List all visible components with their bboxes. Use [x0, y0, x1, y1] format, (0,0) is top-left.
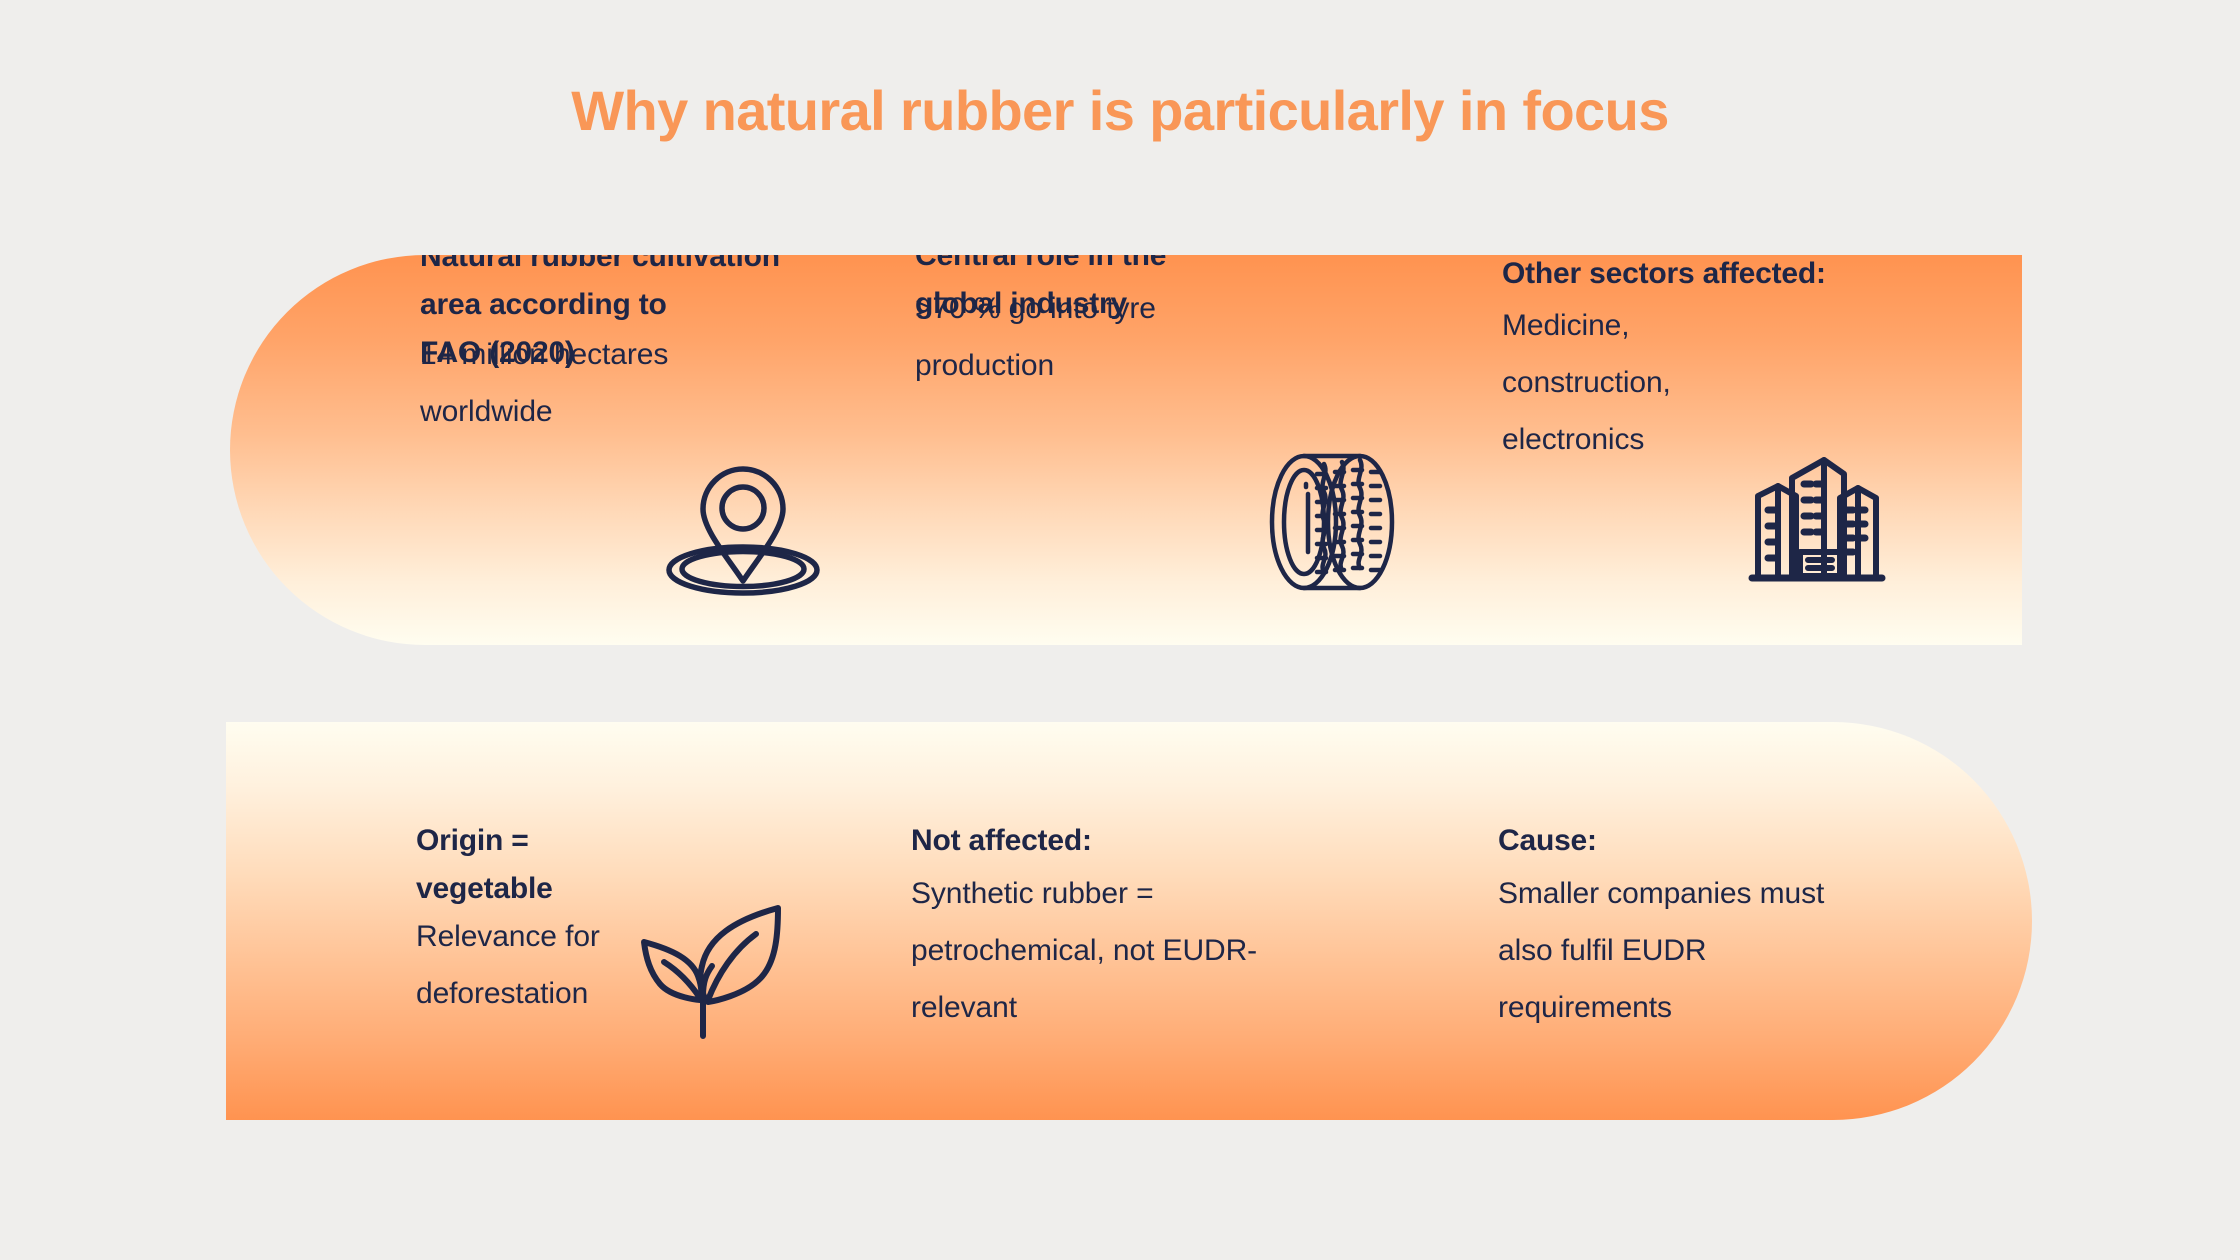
- bottom-card: Origin = vegetable Relevance for defores…: [226, 722, 2032, 1120]
- central-role-body: >70 % go into tyre production: [915, 280, 1156, 394]
- bottom-card-column-1: Origin = vegetable Relevance for defores…: [378, 722, 878, 1120]
- other-sectors-heading: Other sectors affected:: [1502, 255, 1826, 298]
- page-title: Why natural rubber is particularly in fo…: [0, 78, 2240, 143]
- infographic-stage: Why natural rubber is particularly in fo…: [0, 0, 2240, 1260]
- bottom-card-columns: Origin = vegetable Relevance for defores…: [226, 722, 2032, 1120]
- map-pin-icon: [665, 465, 821, 597]
- tyre-icon: [1262, 448, 1402, 596]
- origin-heading: Origin = vegetable: [416, 817, 553, 913]
- other-sectors-body: Medicine, construction, electronics: [1502, 297, 1671, 468]
- bottom-card-column-2: Not affected: Synthetic rubber = petroch…: [911, 722, 1416, 1120]
- plant-sprout-icon: [638, 898, 798, 1048]
- buildings-icon: [1748, 448, 1886, 586]
- not-affected-body: Synthetic rubber = petrochemical, not EU…: [911, 865, 1257, 1036]
- origin-body: Relevance for deforestation: [416, 908, 600, 1022]
- cause-heading: Cause:: [1498, 817, 1597, 865]
- cause-body: Smaller companies must also fulfil EUDR …: [1498, 865, 1824, 1036]
- not-affected-heading: Not affected:: [911, 817, 1092, 865]
- cultivation-area-body: 14 million hectares worldwide: [420, 326, 668, 440]
- bottom-card-column-3: Cause: Smaller companies must also fulfi…: [1498, 722, 2018, 1120]
